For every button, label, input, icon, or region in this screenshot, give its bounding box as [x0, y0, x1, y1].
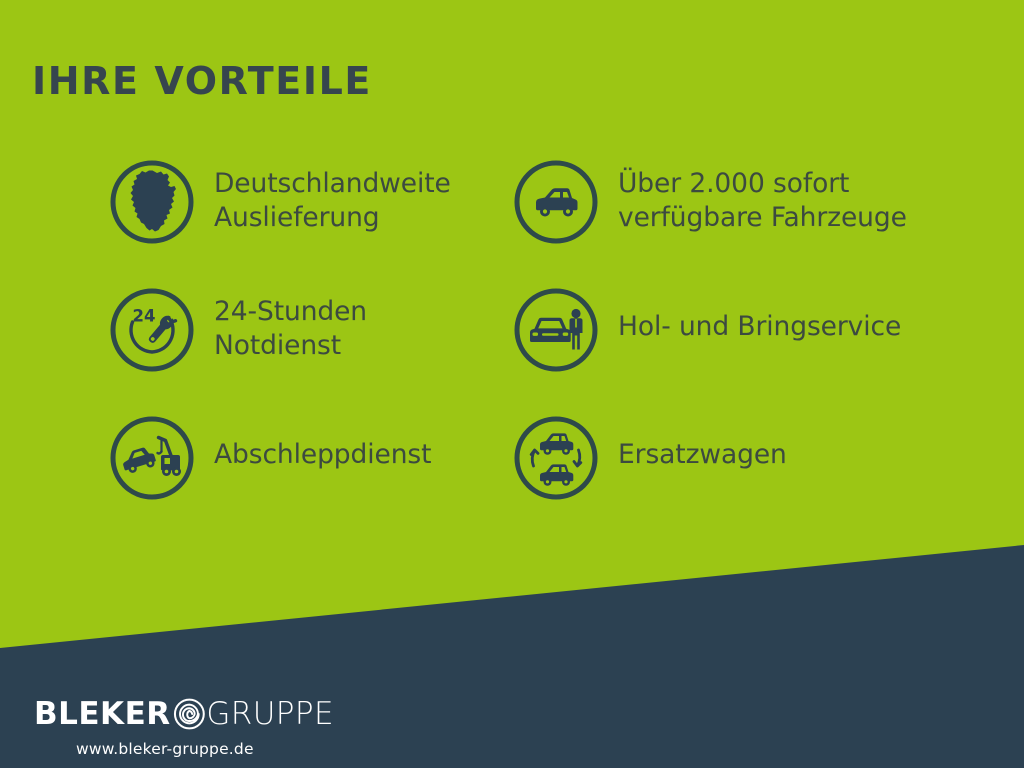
benefit-item-24-stunden-notdienst[interactable]: 24 24-Stunden Notdienst — [108, 286, 512, 414]
tow-truck-icon — [108, 414, 196, 502]
benefit-label: Hol- und Bringservice — [618, 286, 901, 344]
page-title: IHRE VORTEILE — [32, 62, 372, 100]
logo-website-url[interactable]: www.bleker-gruppe.de — [76, 740, 334, 758]
benefit-item-hol-und-bringservice[interactable]: Hol- und Bringservice — [512, 286, 988, 414]
car-with-attendant-icon — [512, 286, 600, 374]
benefit-label: Ersatzwagen — [618, 414, 787, 472]
germany-map-icon — [108, 158, 196, 246]
logo-wordmark: BLEKER GRUPPE — [34, 694, 334, 734]
benefit-item-verfuegbare-fahrzeuge[interactable]: Über 2.000 sofort verfügbare Fahrzeuge — [512, 158, 988, 286]
spiral-circle-logo-icon — [173, 693, 206, 735]
benefits-row: Abschleppdienst — [108, 414, 988, 542]
slide-canvas: IHRE VORTEILE Deutschlandweite Ausliefer… — [0, 0, 1024, 768]
logo-brand-bold: BLEKER — [34, 699, 171, 730]
benefits-row: Deutschlandweite Auslieferung Über 2.000… — [108, 158, 988, 286]
footer-logo[interactable]: BLEKER GRUPPE www.bleker-gruppe.de — [34, 694, 334, 760]
benefit-label: Abschleppdienst — [214, 414, 431, 472]
benefit-label: Deutschlandweite Auslieferung — [214, 158, 451, 235]
24-hours-wrench-icon: 24 — [108, 286, 196, 374]
benefit-item-ersatzwagen[interactable]: Ersatzwagen — [512, 414, 988, 542]
benefit-item-abschleppdienst[interactable]: Abschleppdienst — [108, 414, 512, 542]
two-cars-exchange-icon — [512, 414, 600, 502]
benefit-label: Über 2.000 sofort verfügbare Fahrzeuge — [618, 158, 907, 235]
benefit-item-deutschlandweite-auslieferung[interactable]: Deutschlandweite Auslieferung — [108, 158, 512, 286]
logo-brand-light: GRUPPE — [206, 699, 334, 730]
car-icon — [512, 158, 600, 246]
svg-text:24: 24 — [133, 307, 156, 326]
benefit-label: 24-Stunden Notdienst — [214, 286, 367, 363]
benefits-list: Deutschlandweite Auslieferung Über 2.000… — [108, 158, 988, 542]
benefits-row: 24 24-Stunden Notdienst — [108, 286, 988, 414]
